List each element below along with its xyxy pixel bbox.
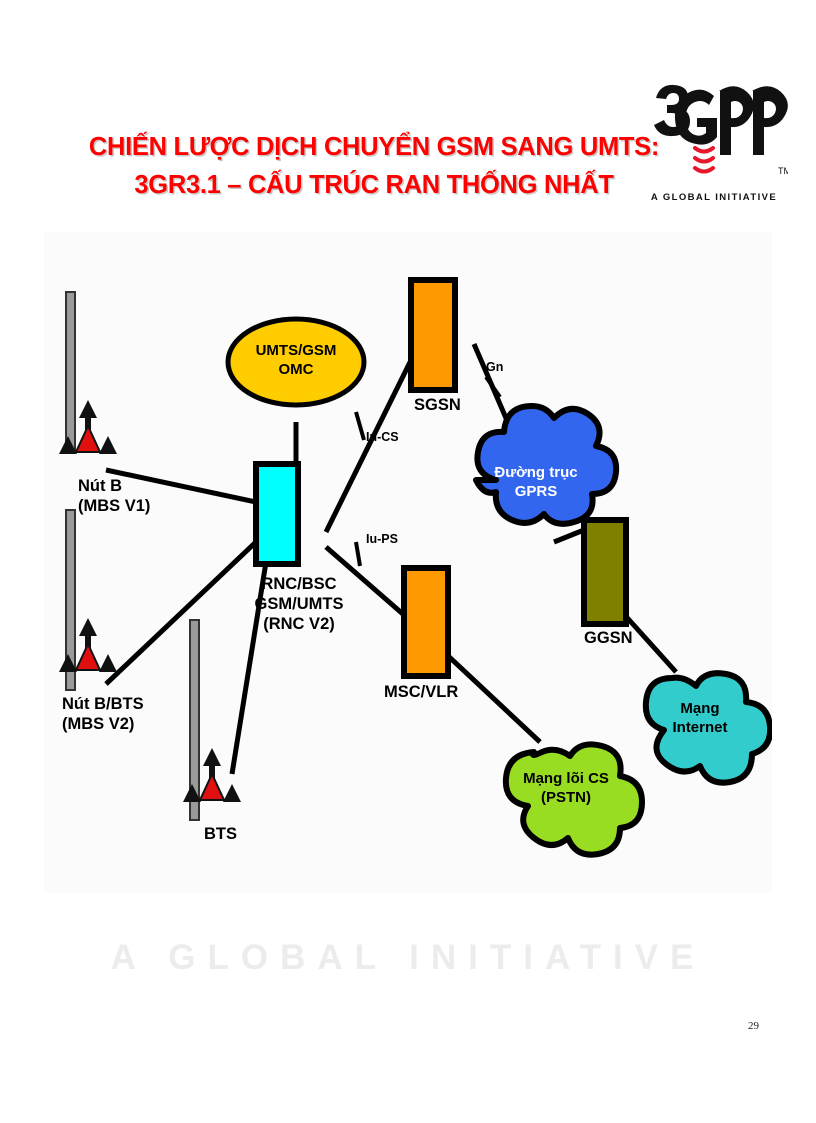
node-shape-ggsn [584,520,626,624]
page-title: CHIẾN LƯỢC DỊCH CHUYỂN GSM SANG UMTS: 3G… [44,128,704,204]
link-label-gn: Gn [486,360,503,375]
rnc-line-2: GSM/UMTS [234,594,364,614]
internet-line-2: Internet [642,719,758,738]
node-label-bts: BTS [204,824,237,844]
cloud-label-pstn: Mạng lõi CS (PSTN) [492,770,640,808]
cloud-label-gprs: Đường trục GPRS [472,464,600,502]
node-shape-sgsn [411,280,455,390]
gprs-line-2: GPRS [472,483,600,502]
node-label-omc: UMTS/GSM OMC [234,342,358,380]
tower-masts [66,292,199,820]
network-architecture-diagram: UMTS/GSM OMC RNC/BSC GSM/UMTS (RNC V2) S… [44,232,772,893]
title-line-2: 3GR3.1 – CẤU TRÚC RAN THỐNG NHẤT [44,166,704,204]
3gpp-logo: TM A GLOBAL INITIATIVE [640,74,788,224]
node-shape-msc [404,568,448,676]
nodeb1-line-1: Nút B [78,476,150,496]
pstn-line-2: (PSTN) [492,789,640,808]
nodeb2-line-1: Nút B/BTS [62,694,144,714]
nodeb2-line-2: (MBS V2) [62,714,144,734]
footer-watermark: A GLOBAL INITIATIVE [0,938,816,978]
internet-line-1: Mạng [642,700,758,719]
rnc-line-1: RNC/BSC [234,574,364,594]
node-label-nodeb1: Nút B (MBS V1) [78,476,150,516]
nodeb1-line-2: (MBS V1) [78,496,150,516]
title-line-1: CHIẾN LƯỢC DỊCH CHUYỂN GSM SANG UMTS: [44,128,704,166]
node-label-rnc: RNC/BSC GSM/UMTS (RNC V2) [234,574,364,634]
rnc-line-3: (RNC V2) [234,614,364,634]
link-label-iu-cs: Iu-CS [366,430,399,445]
diagram-graphics [44,232,772,893]
mast-1 [66,292,75,452]
link-label-iu-ps: Iu-PS [366,532,398,547]
omc-line-2: OMC [234,361,358,380]
tick-iu-ps [356,542,360,566]
node-label-msc: MSC/VLR [384,682,458,702]
node-label-sgsn: SGSN [414,395,461,415]
node-label-nodeb2: Nút B/BTS (MBS V2) [62,694,144,734]
logo-tagline: A GLOBAL INITIATIVE [640,192,788,203]
tick-iu-cs [356,412,364,440]
node-shape-rnc [256,464,298,564]
cloud-label-internet: Mạng Internet [642,700,758,738]
3gpp-logo-mark: TM [640,74,788,192]
trademark-text: TM [778,166,788,176]
slide-canvas: CHIẾN LƯỢC DỊCH CHUYỂN GSM SANG UMTS: 3G… [0,0,816,1123]
gprs-line-1: Đường trục [472,464,600,483]
pstn-line-1: Mạng lõi CS [492,770,640,789]
node-label-ggsn: GGSN [584,628,633,648]
page-number: 29 [748,1020,759,1032]
omc-line-1: UMTS/GSM [234,342,358,361]
